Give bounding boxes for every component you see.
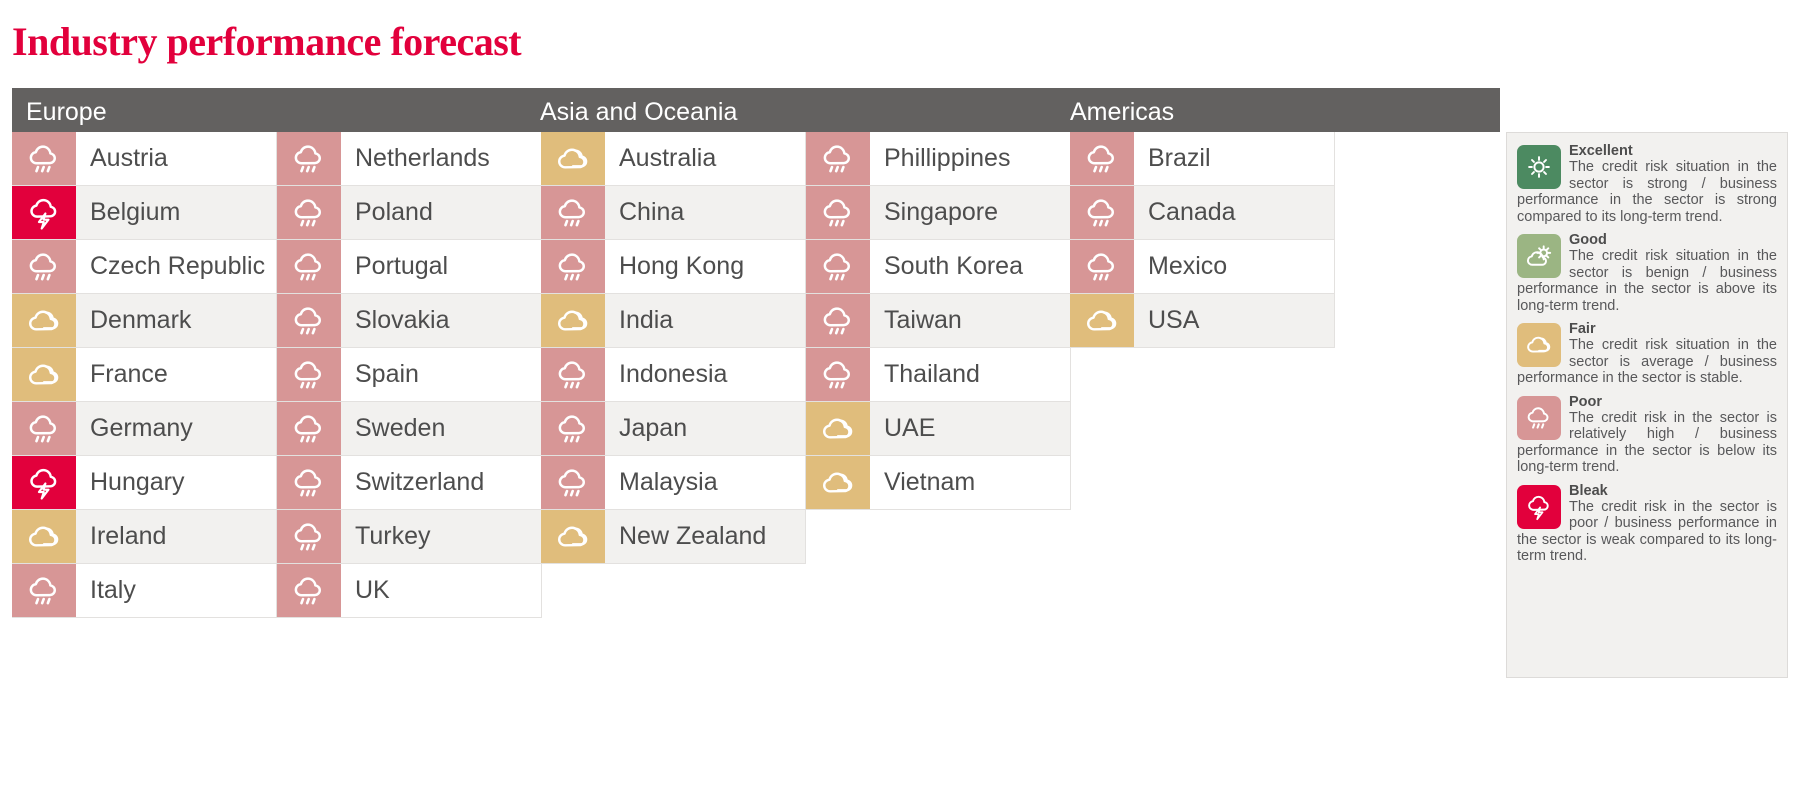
country-name: UAE (870, 402, 1070, 455)
rain-cloud-icon (277, 240, 341, 293)
country-name: Brazil (1134, 132, 1334, 185)
country-row[interactable]: Thailand (806, 348, 1071, 402)
country-name: Turkey (341, 510, 541, 563)
cloud-icon (541, 132, 605, 185)
page-title: Industry performance forecast (12, 18, 521, 65)
country-row[interactable]: Australia (541, 132, 806, 186)
rain-cloud-icon (806, 294, 870, 347)
rain-cloud-icon (541, 456, 605, 509)
country-row[interactable]: Sweden (277, 402, 542, 456)
country-name: Portugal (341, 240, 541, 293)
country-row[interactable]: Canada (1070, 186, 1335, 240)
country-name: Vietnam (870, 456, 1070, 509)
rain-cloud-icon (1070, 132, 1134, 185)
rain-cloud-icon (277, 348, 341, 401)
legend-item: GoodThe credit risk situation in the sec… (1517, 232, 1777, 314)
country-row[interactable]: Taiwan (806, 294, 1071, 348)
country-column: BrazilCanadaMexicoUSA (1070, 132, 1335, 348)
country-row[interactable]: Brazil (1070, 132, 1335, 186)
rain-cloud-icon (541, 348, 605, 401)
country-row[interactable]: Denmark (12, 294, 277, 348)
country-name: Mexico (1134, 240, 1334, 293)
country-name: Australia (605, 132, 805, 185)
cloud-icon (1517, 323, 1561, 367)
country-column: AustriaBelgiumCzech RepublicDenmarkFranc… (12, 132, 277, 618)
country-name: Thailand (870, 348, 1070, 401)
rain-cloud-icon (806, 240, 870, 293)
legend-item: PoorThe credit risk in the sector is rel… (1517, 394, 1777, 476)
country-row[interactable]: Singapore (806, 186, 1071, 240)
country-row[interactable]: Italy (12, 564, 277, 618)
sun-behind-cloud-icon (1517, 234, 1561, 278)
country-name: Slovakia (341, 294, 541, 347)
country-name: Singapore (870, 186, 1070, 239)
rain-cloud-icon (1070, 240, 1134, 293)
country-row[interactable]: China (541, 186, 806, 240)
rain-cloud-icon (806, 132, 870, 185)
region-label-europe: Europe (26, 98, 107, 127)
country-row[interactable]: USA (1070, 294, 1335, 348)
country-name: China (605, 186, 805, 239)
country-row[interactable]: Ireland (12, 510, 277, 564)
country-name: USA (1134, 294, 1334, 347)
country-name: Denmark (76, 294, 276, 347)
country-name: Switzerland (341, 456, 541, 509)
legend-item: ExcellentThe credit risk situation in th… (1517, 143, 1777, 225)
country-row[interactable]: Vietnam (806, 456, 1071, 510)
rain-cloud-icon (12, 564, 76, 617)
country-name: Sweden (341, 402, 541, 455)
country-name: France (76, 348, 276, 401)
country-name: India (605, 294, 805, 347)
country-row[interactable]: Belgium (12, 186, 277, 240)
country-row[interactable]: UAE (806, 402, 1071, 456)
rain-cloud-icon (541, 402, 605, 455)
country-row[interactable]: Switzerland (277, 456, 542, 510)
country-row[interactable]: Hong Kong (541, 240, 806, 294)
cloud-icon (12, 510, 76, 563)
rain-cloud-icon (541, 186, 605, 239)
country-name: Spain (341, 348, 541, 401)
country-row[interactable]: Spain (277, 348, 542, 402)
rain-cloud-icon (277, 456, 341, 509)
rain-cloud-icon (277, 186, 341, 239)
country-row[interactable]: Germany (12, 402, 277, 456)
country-row[interactable]: Austria (12, 132, 277, 186)
country-row[interactable]: India (541, 294, 806, 348)
country-row[interactable]: Czech Republic (12, 240, 277, 294)
country-row[interactable]: France (12, 348, 277, 402)
country-name: South Korea (870, 240, 1070, 293)
country-name: UK (341, 564, 541, 617)
rain-cloud-icon (1517, 396, 1561, 440)
rain-cloud-icon (1070, 186, 1134, 239)
country-name: Ireland (76, 510, 276, 563)
country-row[interactable]: Portugal (277, 240, 542, 294)
cloud-icon (12, 348, 76, 401)
country-name: Phillippines (870, 132, 1070, 185)
cloud-icon (806, 456, 870, 509)
region-header-band: Europe Asia and Oceania Americas (12, 88, 1500, 132)
country-name: Hungary (76, 456, 276, 509)
country-row[interactable]: Phillippines (806, 132, 1071, 186)
country-row[interactable]: Japan (541, 402, 806, 456)
country-name: Canada (1134, 186, 1334, 239)
country-row[interactable]: Slovakia (277, 294, 542, 348)
country-name: Taiwan (870, 294, 1070, 347)
rain-cloud-icon (12, 240, 76, 293)
cloud-icon (541, 294, 605, 347)
country-column: NetherlandsPolandPortugalSlovakiaSpainSw… (277, 132, 542, 618)
country-row[interactable]: Indonesia (541, 348, 806, 402)
country-name: Italy (76, 564, 276, 617)
country-name: Belgium (76, 186, 276, 239)
storm-cloud-icon (12, 456, 76, 509)
rain-cloud-icon (277, 294, 341, 347)
country-row[interactable]: UK (277, 564, 542, 618)
legend-item: FairThe credit risk situation in the sec… (1517, 321, 1777, 387)
country-row[interactable]: Netherlands (277, 132, 542, 186)
country-name: Malaysia (605, 456, 805, 509)
country-name: Austria (76, 132, 276, 185)
rain-cloud-icon (277, 510, 341, 563)
country-name: Japan (605, 402, 805, 455)
country-row[interactable]: New Zealand (541, 510, 806, 564)
country-row[interactable]: Hungary (12, 456, 277, 510)
country-row[interactable]: Mexico (1070, 240, 1335, 294)
country-row[interactable]: Malaysia (541, 456, 806, 510)
storm-cloud-icon (1517, 485, 1561, 529)
region-label-americas: Americas (1070, 98, 1174, 127)
country-column: AustraliaChinaHong KongIndiaIndonesiaJap… (541, 132, 806, 564)
rain-cloud-icon (277, 564, 341, 617)
country-name: New Zealand (605, 510, 805, 563)
rain-cloud-icon (541, 240, 605, 293)
legend-item: BleakThe credit risk in the sector is po… (1517, 483, 1777, 565)
cloud-icon (1070, 294, 1134, 347)
sun-icon (1517, 145, 1561, 189)
rain-cloud-icon (806, 186, 870, 239)
rain-cloud-icon (806, 348, 870, 401)
country-column: PhillippinesSingaporeSouth KoreaTaiwanTh… (806, 132, 1071, 510)
rain-cloud-icon (277, 132, 341, 185)
country-row[interactable]: Poland (277, 186, 542, 240)
storm-cloud-icon (12, 186, 76, 239)
country-name: Czech Republic (76, 240, 276, 293)
cloud-icon (541, 510, 605, 563)
country-name: Germany (76, 402, 276, 455)
country-name: Poland (341, 186, 541, 239)
country-name: Indonesia (605, 348, 805, 401)
country-name: Netherlands (341, 132, 541, 185)
rain-cloud-icon (12, 402, 76, 455)
country-name: Hong Kong (605, 240, 805, 293)
country-row[interactable]: South Korea (806, 240, 1071, 294)
cloud-icon (12, 294, 76, 347)
rain-cloud-icon (12, 132, 76, 185)
rain-cloud-icon (277, 402, 341, 455)
country-row[interactable]: Turkey (277, 510, 542, 564)
cloud-icon (806, 402, 870, 455)
region-label-asia-oceania: Asia and Oceania (540, 98, 737, 127)
legend-panel: ExcellentThe credit risk situation in th… (1506, 132, 1788, 678)
